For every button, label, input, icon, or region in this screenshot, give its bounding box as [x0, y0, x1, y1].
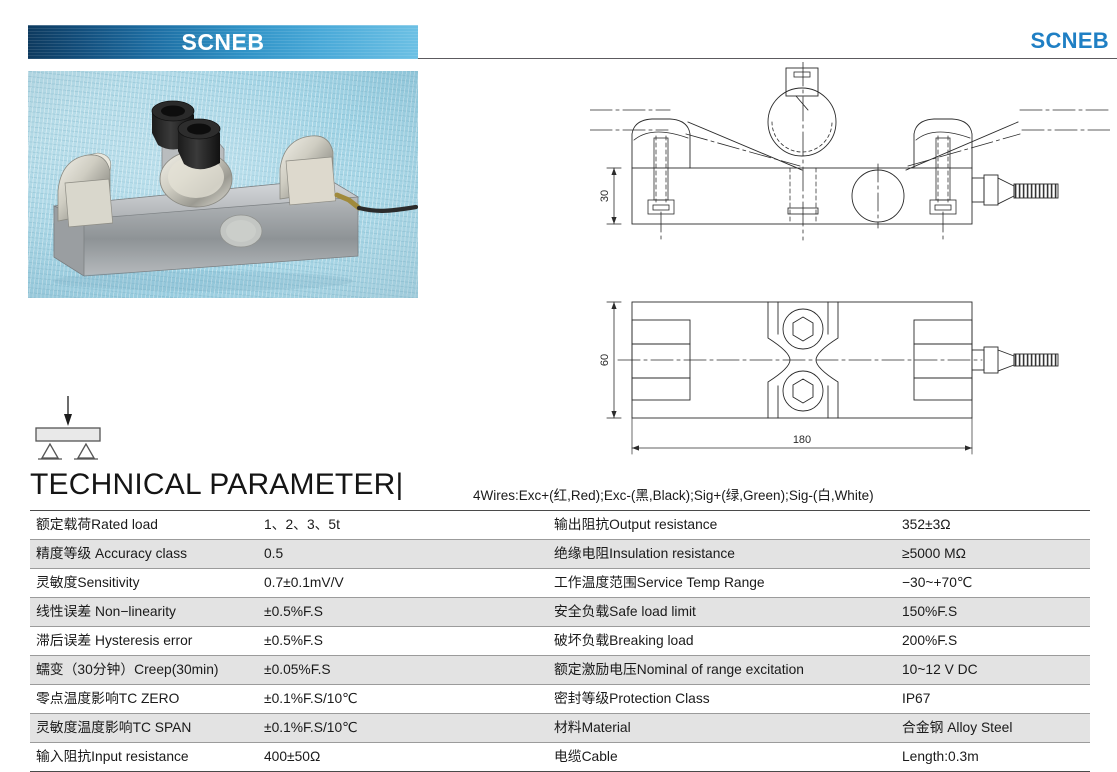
side-view-height-dimension: 30: [599, 190, 611, 202]
spec-value-left: ±0.1%F.S/10℃: [258, 685, 548, 714]
spec-table-body: 额定载荷Rated load1、2、3、5t输出阻抗Output resista…: [30, 511, 1090, 772]
brand-label-right: SCNEB: [1030, 28, 1109, 54]
spec-label-right: 电缆Cable: [548, 743, 896, 772]
header-divider: [418, 58, 1117, 59]
table-row: 灵敏度Sensitivity0.7±0.1mV/V工作温度范围Service T…: [30, 569, 1090, 598]
spec-value-right: ≥5000 MΩ: [896, 540, 1090, 569]
spec-value-left: 400±50Ω: [258, 743, 548, 772]
spec-value-right: 200%F.S: [896, 627, 1090, 656]
table-row: 灵敏度温度影响TC SPAN±0.1%F.S/10℃材料Material合金钢 …: [30, 714, 1090, 743]
support-left: [42, 444, 58, 458]
support-right: [78, 444, 94, 458]
spec-value-right: −30~+70℃: [896, 569, 1090, 598]
spec-label-right: 材料Material: [548, 714, 896, 743]
table-row: 输入阻抗Input resistance400±50Ω电缆CableLength…: [30, 743, 1090, 772]
banner-title: SCNEB: [181, 29, 264, 56]
load-arrow-head: [64, 414, 72, 426]
beam-bar: [36, 428, 100, 441]
product-banner: SCNEB: [28, 25, 418, 59]
spec-value-left: 0.5: [258, 540, 548, 569]
side-elevation-view: 30: [590, 62, 1110, 240]
spec-value-right: IP67: [896, 685, 1090, 714]
spec-value-right: 合金钢 Alloy Steel: [896, 714, 1090, 743]
technical-parameter-table: 额定载荷Rated load1、2、3、5t输出阻抗Output resista…: [30, 510, 1090, 772]
spec-label-left: 灵敏度Sensitivity: [30, 569, 258, 598]
table-row: 零点温度影响TC ZERO±0.1%F.S/10℃密封等级Protection …: [30, 685, 1090, 714]
wiring-color-note: 4Wires:Exc+(红,Red);Exc-(黑,Black);Sig+(绿,…: [473, 484, 874, 504]
spec-value-left: ±0.05%F.S: [258, 656, 548, 685]
spec-label-right: 额定激励电压Nominal of range excitation: [548, 656, 896, 685]
spec-label-left: 线性误差 Non−linearity: [30, 598, 258, 627]
spec-label-right: 工作温度范围Service Temp Range: [548, 569, 896, 598]
spec-label-left: 滞后误差 Hysteresis error: [30, 627, 258, 656]
spec-value-left: ±0.1%F.S/10℃: [258, 714, 548, 743]
spec-label-right: 输出阻抗Output resistance: [548, 511, 896, 540]
spec-value-right: 150%F.S: [896, 598, 1090, 627]
product-photo: [28, 71, 418, 298]
plan-view: 60 180: [599, 302, 1058, 454]
spec-value-right: Length:0.3m: [896, 743, 1090, 772]
load-cell-illustration: [28, 71, 418, 298]
spec-value-left: 1、2、3、5t: [258, 511, 548, 540]
spec-label-left: 精度等级 Accuracy class: [30, 540, 258, 569]
spec-label-left: 额定载荷Rated load: [30, 511, 258, 540]
spec-label-left: 灵敏度温度影响TC SPAN: [30, 714, 258, 743]
table-row: 额定载荷Rated load1、2、3、5t输出阻抗Output resista…: [30, 511, 1090, 540]
table-row: 蠕变（30分钟）Creep(30min)±0.05%F.S额定激励电压Nomin…: [30, 656, 1090, 685]
page-title: TECHNICAL PARAMETER|: [30, 468, 404, 502]
plan-view-width-dimension: 60: [599, 354, 611, 366]
spec-value-left: ±0.5%F.S: [258, 598, 548, 627]
load-direction-beam-symbol: [28, 392, 124, 464]
section-title-row: TECHNICAL PARAMETER| 4Wires:Exc+(红,Red);…: [30, 470, 1090, 506]
spec-label-left: 零点温度影响TC ZERO: [30, 685, 258, 714]
spec-label-right: 破坏负载Breaking load: [548, 627, 896, 656]
spec-label-right: 安全负载Safe load limit: [548, 598, 896, 627]
table-row: 滞后误差 Hysteresis error±0.5%F.S破坏负载Breakin…: [30, 627, 1090, 656]
plan-view-length-dimension: 180: [793, 434, 811, 446]
spec-value-right: 10~12 V DC: [896, 656, 1090, 685]
table-row: 线性误差 Non−linearity±0.5%F.S安全负载Safe load …: [30, 598, 1090, 627]
spec-value-right: 352±3Ω: [896, 511, 1090, 540]
technical-drawings: 30: [590, 62, 1110, 462]
spec-value-left: ±0.5%F.S: [258, 627, 548, 656]
spec-label-left: 蠕变（30分钟）Creep(30min): [30, 656, 258, 685]
spec-label-right: 密封等级Protection Class: [548, 685, 896, 714]
spec-label-right: 绝缘电阻Insulation resistance: [548, 540, 896, 569]
spec-label-left: 输入阻抗Input resistance: [30, 743, 258, 772]
spec-value-left: 0.7±0.1mV/V: [258, 569, 548, 598]
table-row: 精度等级 Accuracy class0.5绝缘电阻Insulation res…: [30, 540, 1090, 569]
